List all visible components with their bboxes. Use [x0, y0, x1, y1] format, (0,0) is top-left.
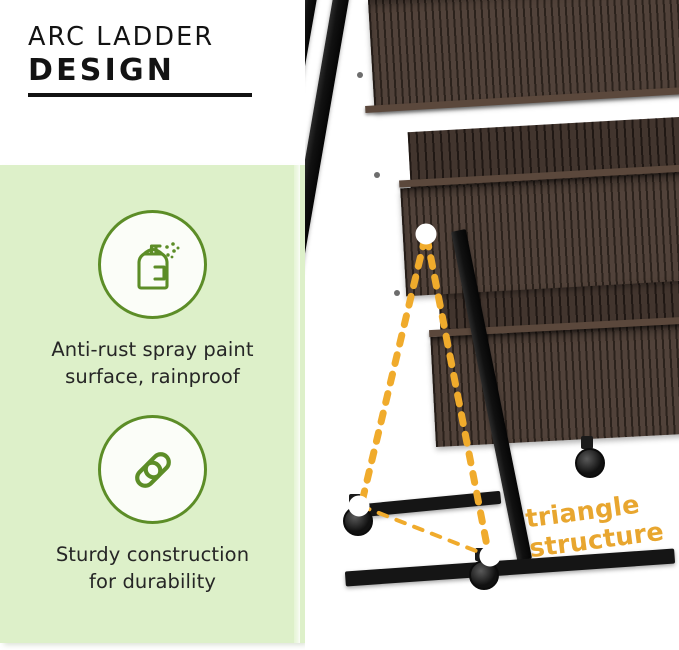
triangle-annotation-overlay [305, 0, 679, 650]
feature-caption: Anti-rust spray paint surface, rainproof [0, 337, 305, 391]
feature-icon-circle [98, 415, 207, 524]
feature-caption-line-1: Sturdy construction [0, 542, 305, 569]
brand-line-2: DESIGN [28, 54, 278, 88]
brand-underline [28, 93, 252, 97]
features-panel: Anti-rust spray paint surface, rainproof… [0, 165, 305, 643]
triangle-node-right [480, 546, 500, 566]
feature-caption-line-2: for durability [0, 569, 305, 596]
spray-paint-can-icon [122, 234, 184, 296]
feature-icon-circle [98, 210, 207, 319]
triangle-node-apex [416, 224, 436, 244]
chain-link-icon [121, 438, 185, 502]
spray-mist-icon [165, 242, 179, 258]
feature-caption-line-1: Anti-rust spray paint [0, 337, 305, 364]
triangle-edge-left [361, 238, 425, 506]
triangle-edge-right [427, 238, 489, 556]
product-photo: triangle structure [305, 0, 679, 650]
brand-logo: ARC LADDER DESIGN [28, 24, 278, 97]
infographic-canvas: ARC LADDER DESIGN [0, 0, 679, 650]
feature-item-anti-rust: Anti-rust spray paint surface, rainproof [0, 210, 305, 391]
feature-item-sturdy: Sturdy construction for durability [0, 415, 305, 596]
brand-line-1: ARC LADDER [28, 24, 278, 51]
feature-caption: Sturdy construction for durability [0, 542, 305, 596]
triangle-node-left [349, 496, 369, 516]
triangle-edge-base [361, 506, 489, 556]
feature-caption-line-2: surface, rainproof [0, 364, 305, 391]
triangle-dashed-edges [361, 238, 489, 556]
